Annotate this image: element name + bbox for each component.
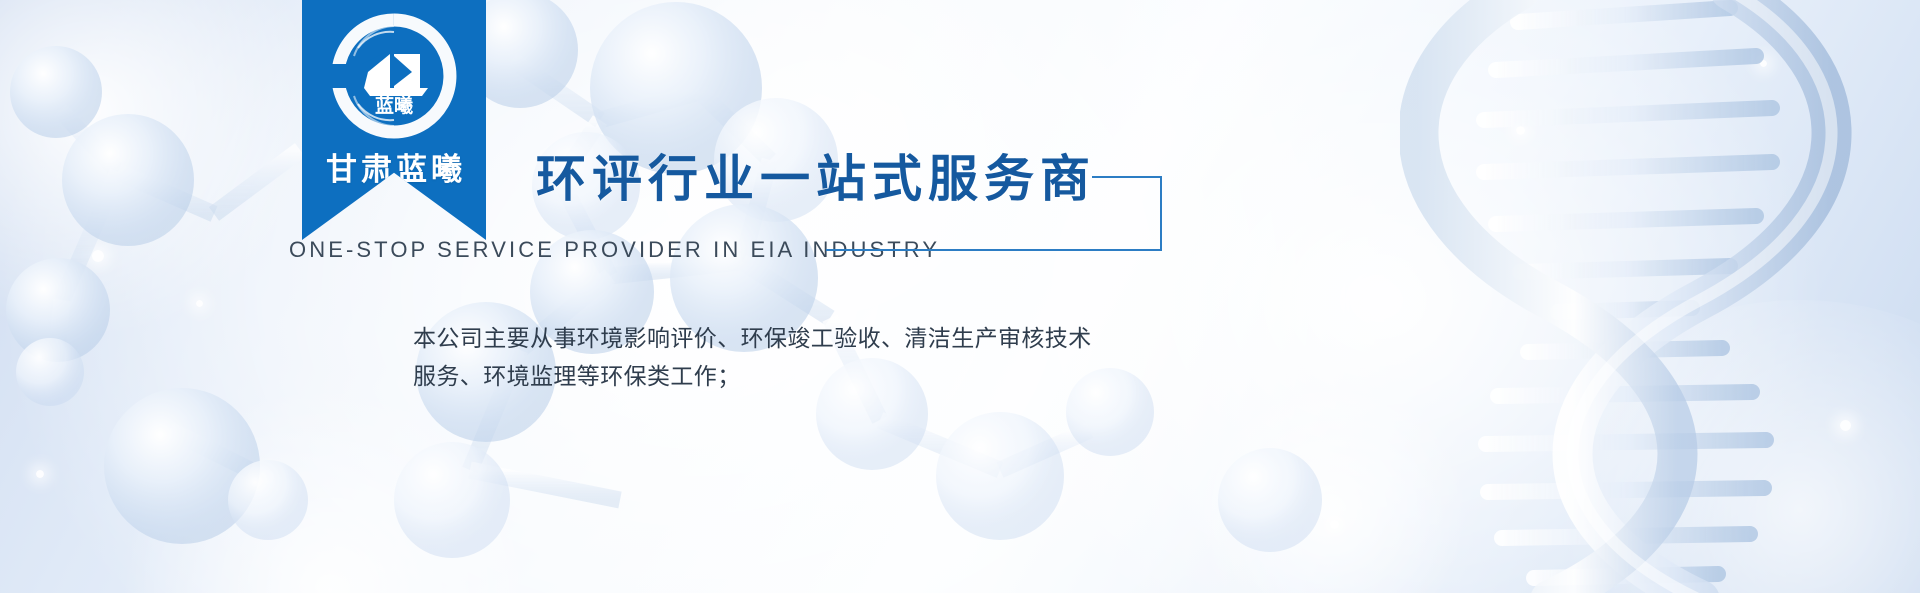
lanxi-emblem-logo: 蓝曦 [328, 10, 460, 142]
logo-inner-text: 蓝曦 [375, 94, 413, 117]
glow-bottom-left [120, 380, 540, 593]
company-description: 本公司主要从事环境影响评价、环保竣工验收、清洁生产审核技术 服务、环境监理等环保… [413, 320, 1193, 396]
page-title: 环评行业一站式服务商 [536, 139, 1096, 211]
bokeh-speck [1516, 126, 1525, 135]
glow-top-left [0, 0, 320, 340]
bokeh-speck [260, 470, 274, 484]
company-ribbon: 蓝曦 甘肃蓝曦 [302, 0, 486, 240]
bokeh-speck [92, 250, 104, 262]
subtitle-english: ONE-STOP SERVICE PROVIDER IN EIA INDUSTR… [289, 237, 940, 263]
bokeh-speck [1330, 520, 1339, 529]
molecule-cluster-graphic [0, 0, 1920, 593]
glow-bottom-right [1540, 300, 1920, 593]
description-line-1: 本公司主要从事环境影响评价、环保竣工验收、清洁生产审核技术 [413, 320, 1193, 358]
hero-banner: 蓝曦 甘肃蓝曦 环评行业一站式服务商 ONE-STOP SERVICE PROV… [0, 0, 1920, 593]
bokeh-speck [36, 470, 44, 478]
glow-center-right [1180, 380, 1480, 593]
bracket-connector-top [1092, 176, 1162, 178]
bokeh-speck [1760, 60, 1767, 67]
dna-helix-graphic [1400, 0, 1920, 593]
bracket-connector-vertical [1160, 176, 1162, 251]
bokeh-speck [1840, 420, 1851, 431]
bokeh-speck [196, 300, 203, 307]
company-short-name: 甘肃蓝曦 [322, 144, 466, 189]
description-line-2: 服务、环境监理等环保类工作； [413, 358, 1193, 396]
